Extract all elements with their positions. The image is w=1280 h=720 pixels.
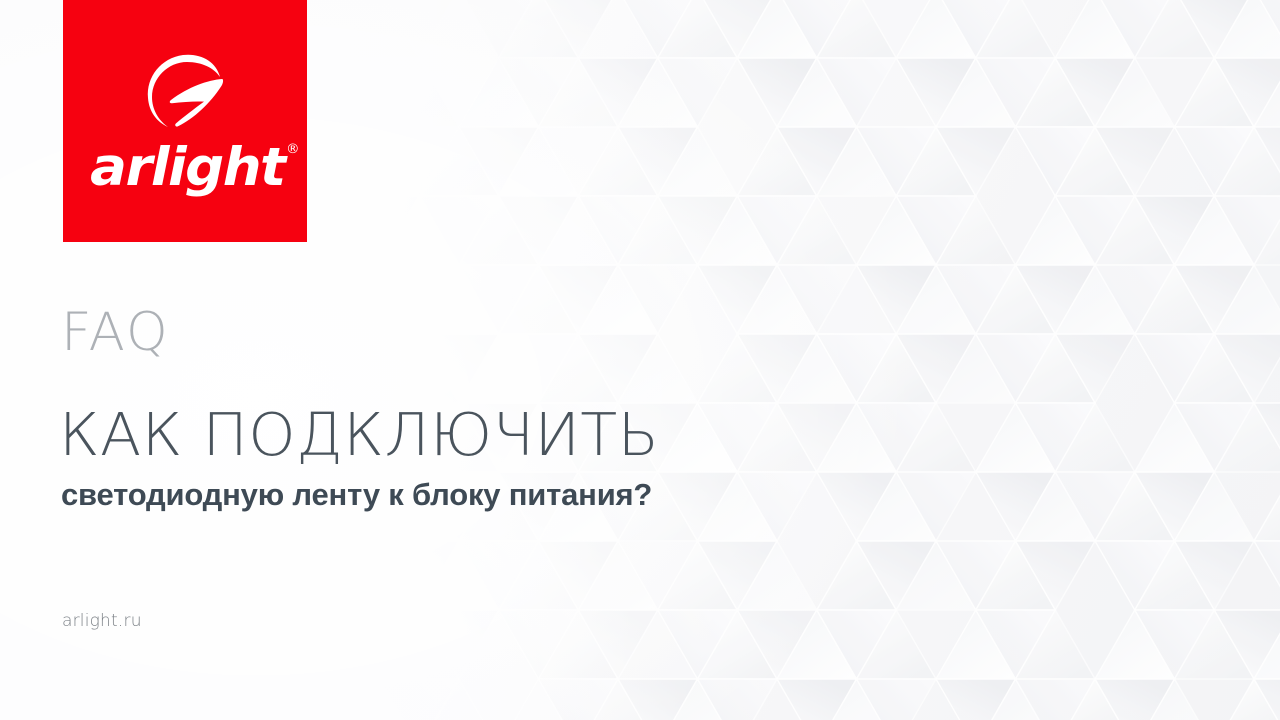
website-url[interactable]: arlight.ru xyxy=(62,613,142,630)
arlight-wordmark-text: arlight xyxy=(90,137,284,198)
page-title: КАК ПОДКЛЮЧИТЬ xyxy=(59,404,659,466)
slide-canvas: arlight® FAQ КАК ПОДКЛЮЧИТЬ светодиодную… xyxy=(0,0,1280,720)
eyebrow-label: FAQ xyxy=(61,306,170,359)
registered-trademark-icon: ® xyxy=(286,143,298,156)
arlight-wordmark: arlight® xyxy=(90,141,284,194)
arlight-logo[interactable]: arlight® xyxy=(63,0,307,242)
arlight-swoosh-emblem-icon xyxy=(136,53,240,131)
page-subtitle: светодиодную ленту к блоку питания? xyxy=(61,478,652,512)
